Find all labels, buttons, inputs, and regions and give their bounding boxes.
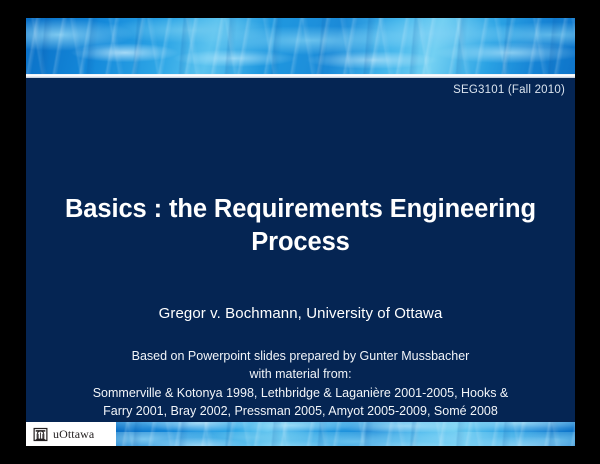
course-code-label: SEG3101 (Fall 2010): [453, 84, 565, 96]
uottawa-logo-text: uOttawa: [53, 427, 94, 442]
credits-line-1: Based on Powerpoint slides prepared by G…: [30, 347, 571, 365]
credits-line-4: Farry 2001, Bray 2002, Pressman 2005, Am…: [30, 402, 571, 420]
water-texture: [116, 422, 575, 446]
university-gate-icon: [33, 427, 48, 442]
water-texture: [26, 18, 575, 74]
page-title: Basics : the Requirements Engineering Pr…: [34, 193, 567, 259]
footer-water-strip: [116, 422, 575, 446]
slide: SEG3101 (Fall 2010) Basics : the Require…: [26, 18, 575, 446]
banner-divider-rule: [26, 74, 575, 78]
credits-block: Based on Powerpoint slides prepared by G…: [30, 347, 571, 420]
uottawa-logo: uOttawa: [26, 422, 116, 446]
author-line: Gregor v. Bochmann, University of Ottawa: [34, 305, 567, 322]
title-block: Basics : the Requirements Engineering Pr…: [34, 193, 567, 259]
header-water-banner: [26, 18, 575, 74]
credits-line-2: with material from:: [30, 365, 571, 383]
slide-footer: uOttawa: [26, 422, 575, 446]
credits-line-3: Sommerville & Kotonya 1998, Lethbridge &…: [30, 384, 571, 402]
